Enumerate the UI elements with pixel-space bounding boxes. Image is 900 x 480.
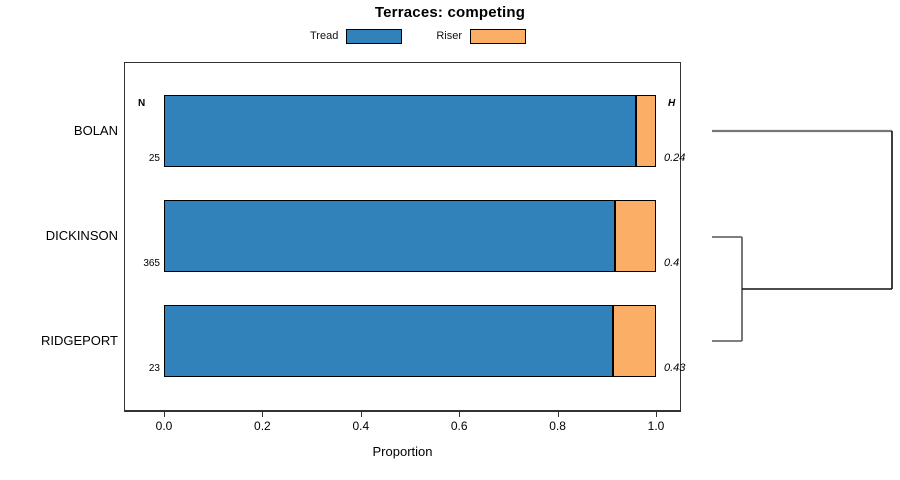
x-tick-label-2: 0.4 [341,419,381,433]
h-column-header: H [668,98,675,109]
x-tick-1 [262,411,263,417]
n-value-bolan: 25 [128,153,160,164]
x-tick-label-5: 1.0 [636,419,676,433]
bar-segment-tread-ridgeport[interactable] [164,305,613,377]
bar-segment-tread-bolan[interactable] [164,95,636,167]
dendrogram [690,60,900,415]
legend-label-tread: Tread [310,30,338,42]
legend-label-riser: Riser [436,30,462,42]
n-value-ridgeport: 23 [128,363,160,374]
bar-segment-riser-bolan[interactable] [636,95,656,167]
legend-entry-tread: Tread [310,29,402,44]
x-tick-label-1: 0.2 [242,419,282,433]
n-column-header: N [138,98,145,109]
n-value-dickinson: 365 [128,258,160,269]
x-tick-label-0: 0.0 [144,419,184,433]
x-tick-4 [558,411,559,417]
x-tick-0 [164,411,165,417]
bar-segment-tread-dickinson[interactable] [164,200,615,272]
x-tick-2 [361,411,362,417]
legend-entry-riser: Riser [436,29,526,44]
x-tick-3 [459,411,460,417]
x-tick-label-4: 0.8 [538,419,578,433]
x-tick-5 [656,411,657,417]
x-axis-line [124,411,681,412]
bar-segment-riser-ridgeport[interactable] [613,305,656,377]
chart-title: Terraces: competing [0,4,900,21]
bar-segment-riser-dickinson[interactable] [615,200,656,272]
x-axis-title: Proportion [124,444,681,459]
h-value-bolan: 0.24 [664,152,685,164]
h-value-dickinson: 0.4 [664,257,679,269]
chart-legend: Tread Riser [310,26,590,46]
legend-swatch-riser [470,29,526,44]
legend-swatch-tread [346,29,402,44]
category-label-ridgeport: RIDGEPORT [0,333,118,348]
category-label-bolan: BOLAN [0,123,118,138]
h-value-ridgeport: 0.43 [664,362,685,374]
x-tick-label-3: 0.6 [439,419,479,433]
category-label-dickinson: DICKINSON [0,228,118,243]
